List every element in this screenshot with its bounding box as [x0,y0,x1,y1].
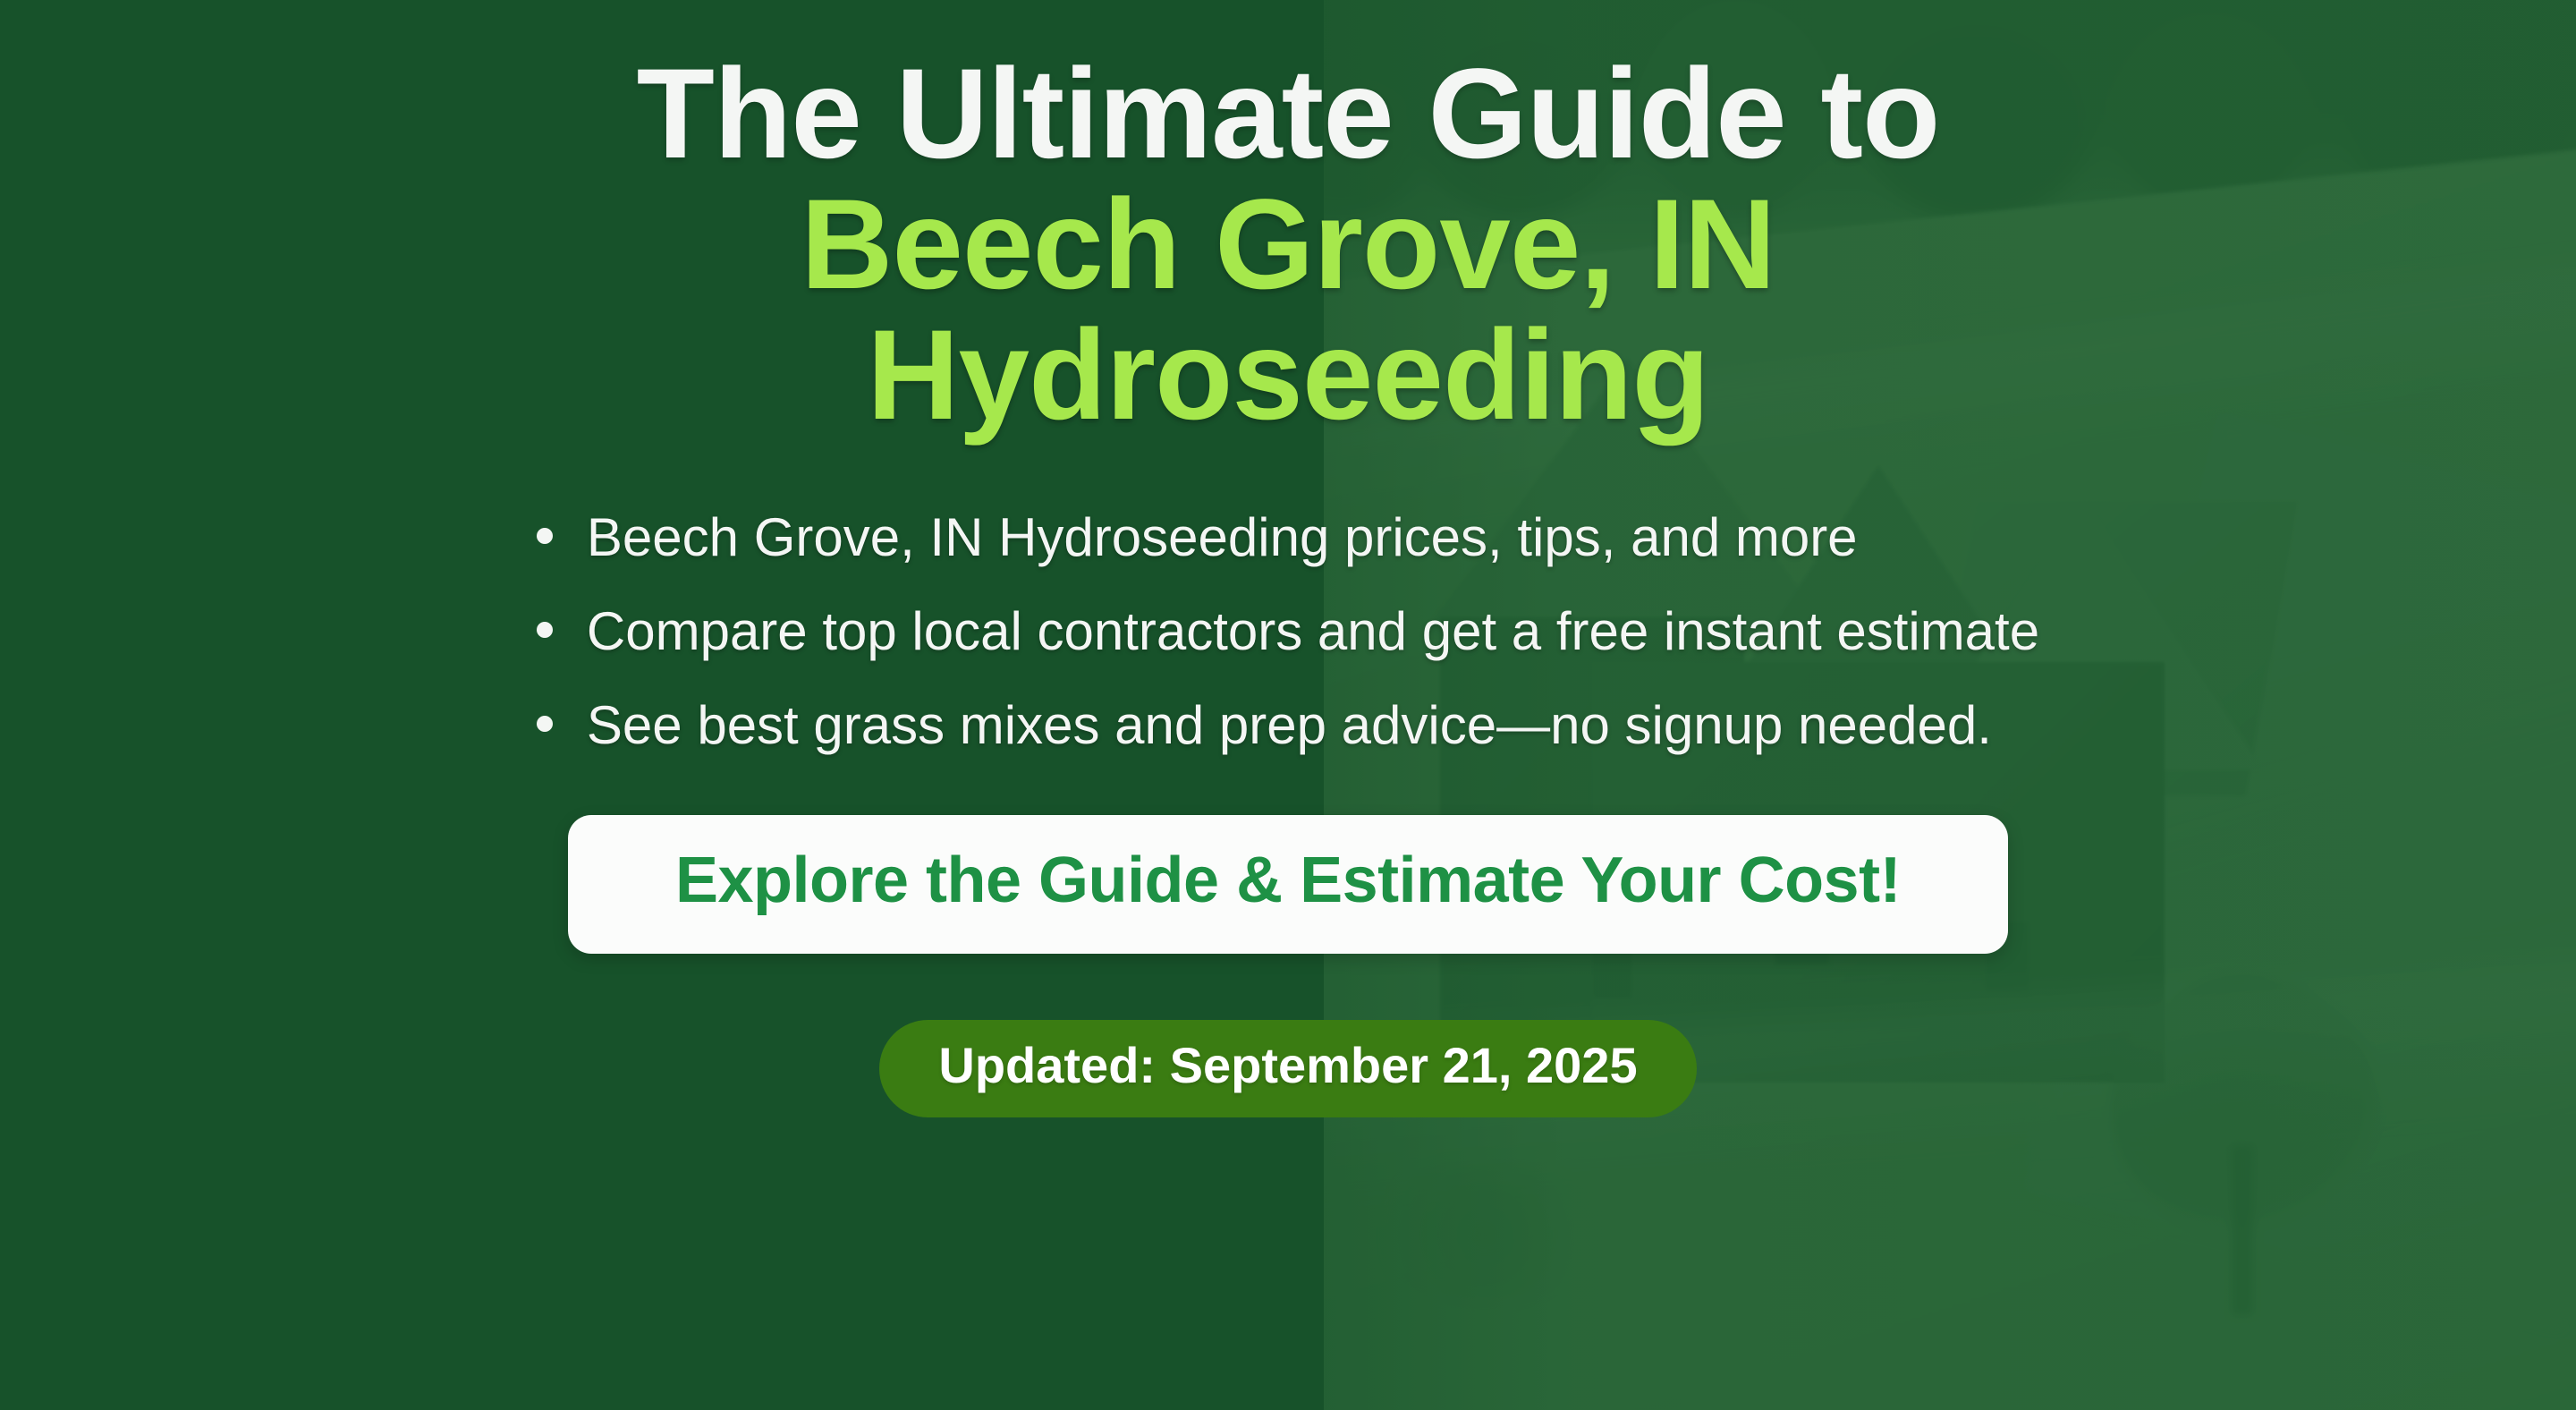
list-item-label: Beech Grove, IN Hydroseeding prices, tip… [587,507,1858,567]
list-item-label: Compare top local contractors and get a … [587,601,2039,661]
list-item-label: See best grass mixes and prep advice—no … [587,695,1992,755]
list-item: Compare top local contractors and get a … [537,584,2039,678]
bullet-dot-icon [537,716,553,732]
banner-content: The Ultimate Guide to Beech Grove, IN Hy… [0,0,2576,1410]
headline-line-3: Hydroseeding [0,310,2576,441]
headline-line-2: Beech Grove, IN [0,180,2576,310]
benefits-list: Beech Grove, IN Hydroseeding prices, tip… [0,490,2576,772]
explore-guide-button[interactable]: Explore the Guide & Estimate Your Cost! [568,815,2008,955]
updated-date-badge: Updated: September 21, 2025 [879,1020,1696,1117]
list-item: Beech Grove, IN Hydroseeding prices, tip… [537,490,2039,584]
badge-container: Updated: September 21, 2025 [0,1020,2576,1117]
headline-line-1: The Ultimate Guide to [0,49,2576,180]
bullet-dot-icon [537,622,553,638]
page-title: The Ultimate Guide to Beech Grove, IN Hy… [0,0,2576,441]
cta-container: Explore the Guide & Estimate Your Cost! [0,815,2576,955]
hero-banner: The Ultimate Guide to Beech Grove, IN Hy… [0,0,2576,1410]
bullet-dot-icon [537,528,553,544]
list-item: See best grass mixes and prep advice—no … [537,678,2039,772]
benefits-list-inner: Beech Grove, IN Hydroseeding prices, tip… [537,490,2039,772]
